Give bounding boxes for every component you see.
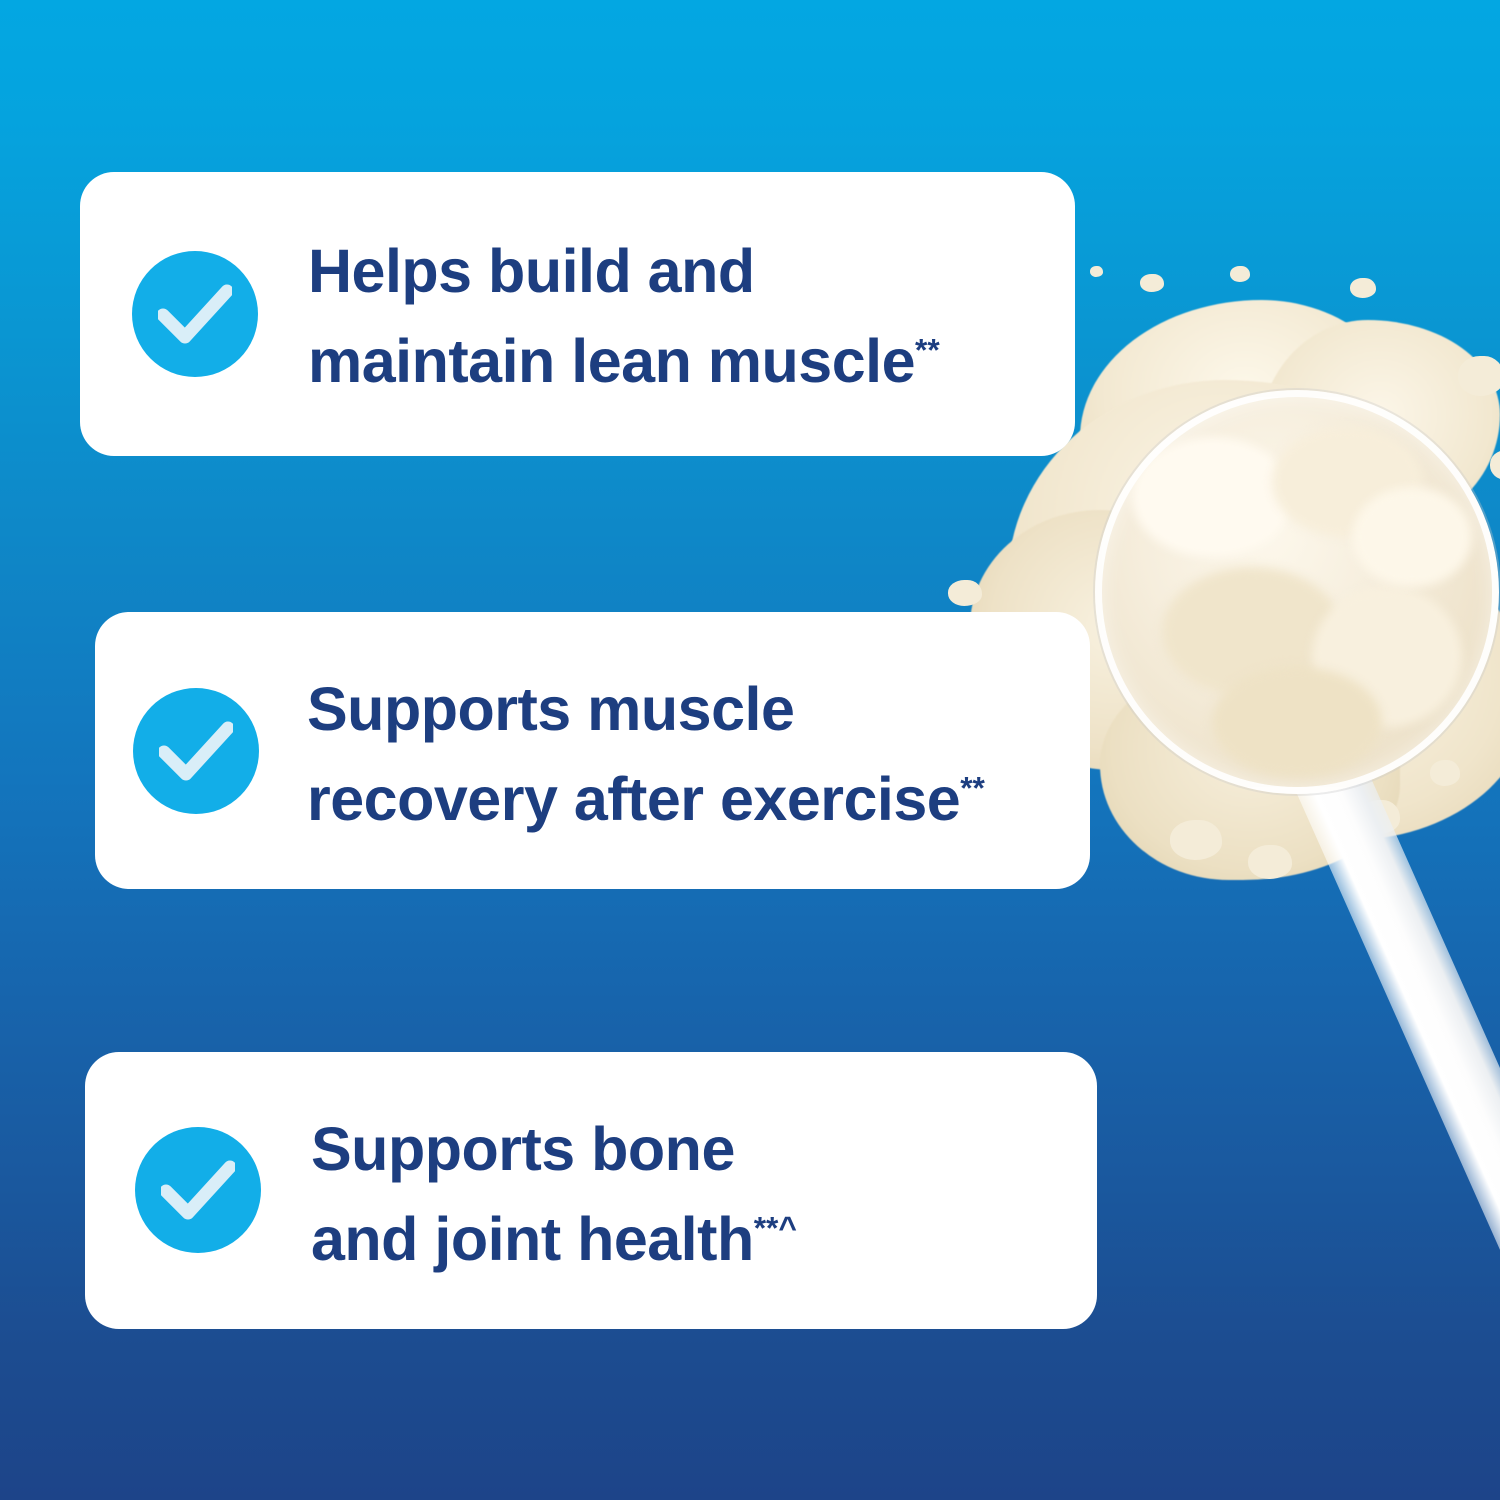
scoop-powder-texture — [1352, 487, 1472, 587]
benefit-card-2: Supports musclerecovery after exercise** — [95, 612, 1090, 889]
check-icon — [133, 688, 259, 814]
powder-crumb — [1458, 356, 1500, 396]
benefit-line-1: Helps build and — [308, 237, 755, 305]
benefit-footnote: ** — [915, 332, 940, 368]
powder-crumb — [1248, 845, 1292, 879]
product-benefits-infographic: Helps build andmaintain lean muscle** Su… — [0, 0, 1500, 1500]
scoop-powder-texture — [1212, 667, 1382, 777]
powder-crumb — [948, 580, 982, 606]
benefit-line-2: maintain lean muscle — [308, 327, 915, 395]
benefit-card-1: Helps build andmaintain lean muscle** — [80, 172, 1075, 456]
powder-crumb — [1430, 760, 1460, 786]
benefit-card-3: Supports boneand joint health**^ — [85, 1052, 1097, 1329]
powder-crumb — [1140, 274, 1164, 292]
powder-crumb — [1170, 820, 1222, 860]
check-icon — [132, 251, 258, 377]
benefit-text-3: Supports boneand joint health**^ — [311, 1104, 797, 1285]
benefit-footnote: ** — [960, 770, 985, 806]
benefit-text-1: Helps build andmaintain lean muscle** — [308, 226, 940, 407]
check-icon — [135, 1127, 261, 1253]
benefit-line-1: Supports bone — [311, 1115, 735, 1183]
benefit-line-2: and joint health — [311, 1205, 754, 1273]
benefit-text-2: Supports musclerecovery after exercise** — [307, 664, 985, 845]
powder-crumb — [1350, 278, 1376, 298]
powder-crumb — [1230, 266, 1250, 282]
benefit-line-2: recovery after exercise — [307, 765, 960, 833]
measuring-scoop — [1095, 390, 1499, 794]
benefit-footnote: **^ — [754, 1210, 797, 1246]
powder-crumb — [1090, 266, 1103, 277]
scoop-powder-texture — [1132, 437, 1292, 557]
benefit-line-1: Supports muscle — [307, 675, 794, 743]
